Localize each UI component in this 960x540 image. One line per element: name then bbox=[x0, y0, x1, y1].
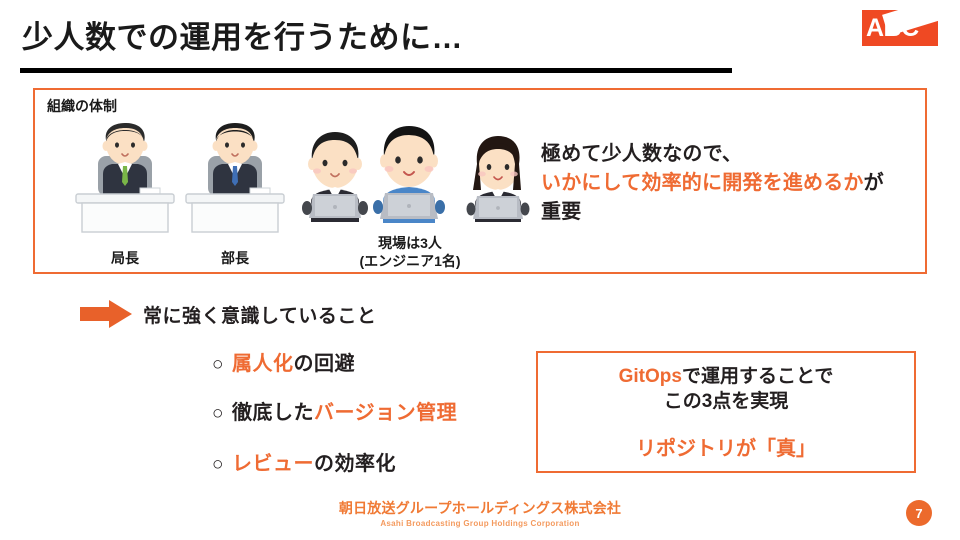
org-message-line1: 極めて少人数なので、 bbox=[541, 140, 884, 169]
page-number-badge: 7 bbox=[906, 500, 932, 526]
bullet-item-attribution: ○属人化の回避 bbox=[212, 347, 355, 376]
footer-company-en: Asahi Broadcasting Group Holdings Corpor… bbox=[0, 519, 960, 528]
team-member-2 bbox=[365, 123, 453, 228]
page-title: 少人数での運用を行うために… bbox=[22, 12, 463, 57]
bullet-rest: の効率化 bbox=[314, 453, 396, 475]
slide-canvas: 少人数での運用を行うために… ABC 組織の体制 bbox=[0, 0, 960, 540]
desk-manager-illustration bbox=[70, 118, 180, 238]
bullet-item-review: ○レビューの効率化 bbox=[212, 447, 396, 476]
arrow-shaft bbox=[80, 307, 111, 321]
gitops-highlight: GitOps bbox=[619, 366, 682, 387]
bullet-item-version-control: ○徹底したバージョン管理 bbox=[212, 396, 457, 425]
desk-manager-illustration bbox=[180, 118, 290, 238]
engineer-laptop-illustration bbox=[459, 134, 537, 222]
right-arrow-icon bbox=[80, 300, 132, 328]
bullet-prefix: 徹底した bbox=[232, 402, 314, 424]
bullet-rest: の回避 bbox=[293, 353, 355, 375]
gitops-line1-rest: で運用することで bbox=[682, 366, 833, 387]
gitops-statement-line1: GitOpsで運用することで bbox=[538, 364, 914, 389]
org-message-line2: いかにして効率的に開発を進めるかが bbox=[541, 169, 884, 198]
person-caption-department-manager: 部長 bbox=[180, 248, 290, 268]
abc-logo: ABC bbox=[862, 10, 938, 46]
bullet-mark-icon: ○ bbox=[212, 403, 224, 424]
arrow-head bbox=[109, 300, 132, 328]
bullet-mark-icon: ○ bbox=[212, 354, 224, 375]
team-caption-line2: (エンジニア1名) bbox=[315, 252, 505, 270]
team-caption: 現場は3人 (エンジニア1名) bbox=[315, 234, 505, 270]
gitops-statement-line2: この3点を実現 bbox=[538, 389, 914, 414]
org-message: 極めて少人数なので、 いかにして効率的に開発を進めるかが 重要 bbox=[541, 140, 884, 227]
gitops-statement: GitOpsで運用することで この3点を実現 bbox=[538, 364, 914, 414]
org-message-highlight: いかにして効率的に開発を進めるか bbox=[541, 172, 864, 194]
gitops-callout-panel: GitOpsで運用することで この3点を実現 リポジトリが「真」 bbox=[536, 351, 916, 473]
person-caption-bureau-chief: 局長 bbox=[70, 248, 180, 268]
org-message-line2-tail: が bbox=[864, 172, 884, 194]
bullet-highlight: レビュー bbox=[232, 453, 314, 475]
org-structure-label: 組織の体制 bbox=[47, 96, 117, 116]
abc-logo-text: ABC bbox=[866, 13, 919, 43]
engineer-laptop-illustration bbox=[365, 123, 453, 223]
person-bureau-chief bbox=[70, 118, 180, 238]
gitops-conclusion: リポジトリが「真」 bbox=[538, 432, 914, 461]
org-message-line3: 重要 bbox=[541, 198, 884, 227]
team-caption-line1: 現場は3人 bbox=[315, 234, 505, 252]
footer-company-logo: 朝日放送グループホールディングス株式会社 Asahi Broadcasting … bbox=[0, 498, 960, 528]
footer-company-ja: 朝日放送グループホールディングス株式会社 bbox=[0, 498, 960, 518]
bullet-highlight: 属人化 bbox=[232, 353, 294, 375]
person-department-manager bbox=[180, 118, 290, 238]
title-underline bbox=[20, 68, 732, 73]
bullet-highlight: バージョン管理 bbox=[314, 402, 457, 424]
team-member-3 bbox=[459, 134, 537, 227]
focus-heading: 常に強く意識していること bbox=[143, 301, 376, 328]
bullet-mark-icon: ○ bbox=[212, 454, 224, 475]
